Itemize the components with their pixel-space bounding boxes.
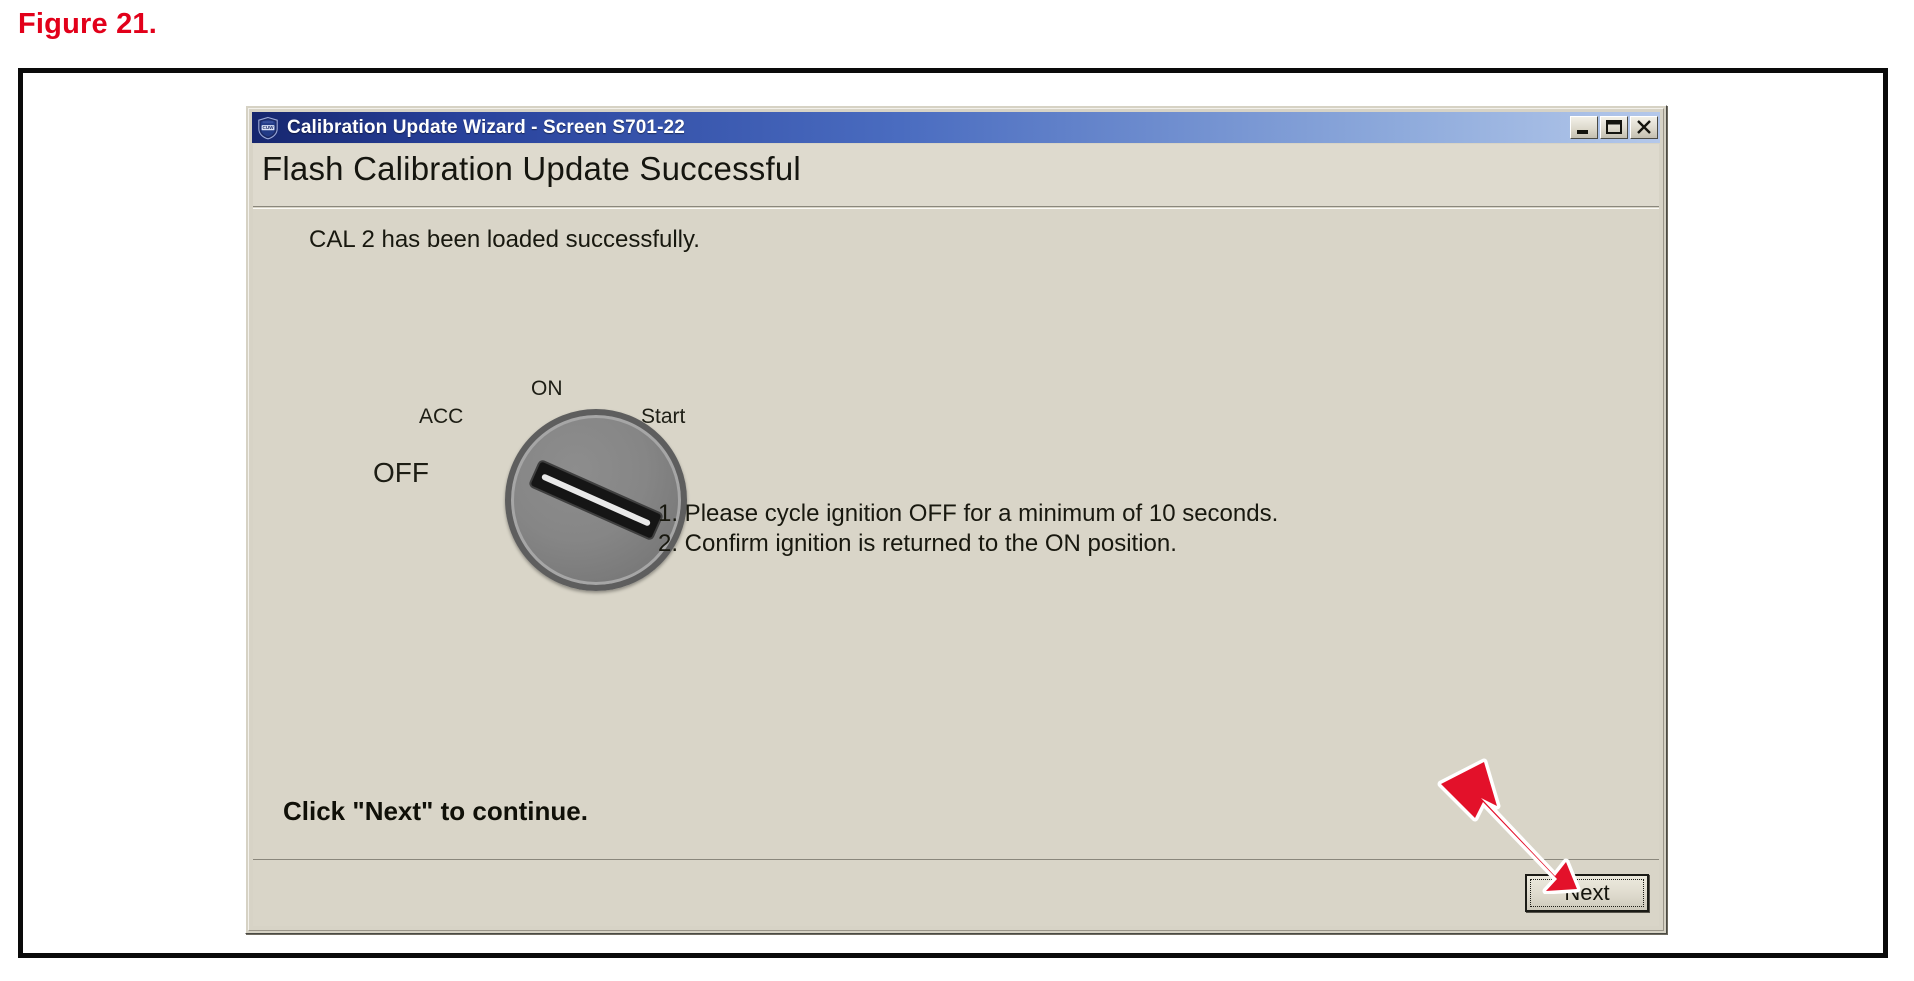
next-button[interactable]: Next [1525,874,1649,912]
wizard-dialog-window: CUW Calibration Update Wizard - Screen S… [245,105,1667,934]
cuw-shield-icon: CUW [256,116,280,140]
page-header-band: Flash Calibration Update Successful [253,144,1659,206]
instruction-item: 1. Please cycle ignition OFF for a minim… [658,499,1278,529]
window-title: Calibration Update Wizard - Screen S701-… [287,117,1568,139]
maximize-button[interactable] [1600,116,1628,139]
svg-text:CUW: CUW [263,125,275,130]
wizard-dialog-inner: CUW Calibration Update Wizard - Screen S… [248,108,1664,931]
success-message: CAL 2 has been loaded successfully. [309,226,700,254]
next-button-focus-ring: Next [1530,879,1644,907]
minimize-button[interactable] [1570,116,1598,139]
page-title: Flash Calibration Update Successful [262,150,801,188]
close-button[interactable] [1630,116,1658,139]
ignition-label-start: Start [641,405,685,429]
dialog-body: CAL 2 has been loaded successfully. OFF … [253,209,1659,860]
ignition-label-acc: ACC [419,405,463,429]
click-next-hint: Click "Next" to continue. [283,796,588,827]
ignition-switch-diagram: OFF ACC ON Start [373,349,723,614]
figure-caption: Figure 21. [18,8,157,41]
instruction-list: 1. Please cycle ignition OFF for a minim… [658,499,1278,559]
ignition-label-off: OFF [373,457,429,489]
instruction-item: 2. Confirm ignition is returned to the O… [658,529,1278,559]
next-button-label: Next [1564,882,1609,904]
dialog-footer: Next [253,860,1659,926]
ignition-keyslot-icon [528,459,664,542]
ignition-label-on: ON [531,377,563,401]
window-titlebar: CUW Calibration Update Wizard - Screen S… [252,112,1660,143]
ignition-keyslot-highlight [541,473,651,526]
